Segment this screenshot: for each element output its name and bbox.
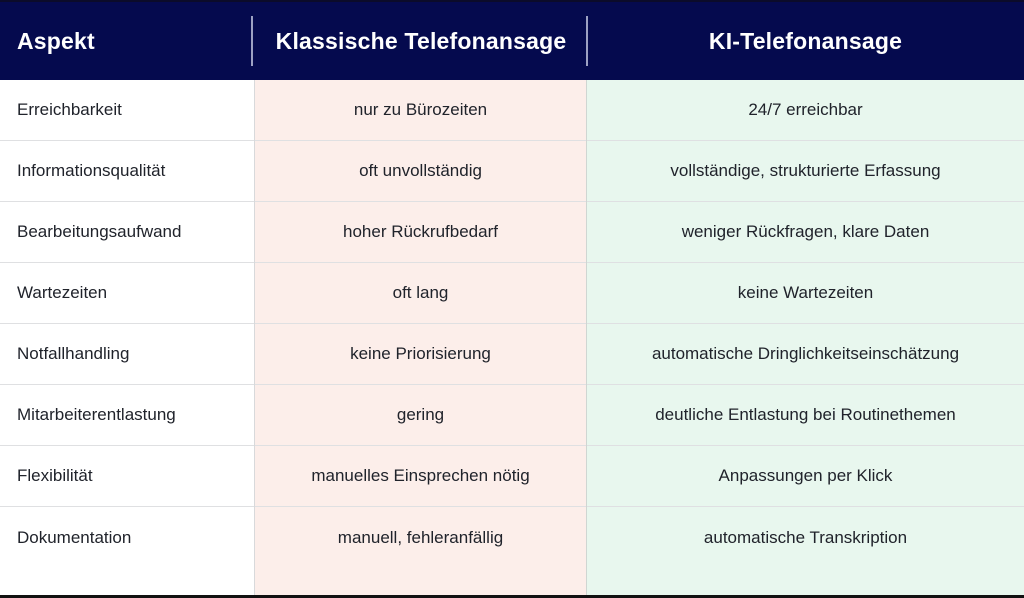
cell-ki: 24/7 erreichbar — [587, 80, 1024, 140]
cell-ki: automatische Dringlichkeitseinschätzung — [587, 324, 1024, 384]
cell-klassisch: hoher Rückrufbedarf — [255, 202, 587, 262]
table-row: Wartezeiten oft lang keine Wartezeiten — [0, 263, 1024, 324]
table-row: Flexibilität manuelles Einsprechen nötig… — [0, 446, 1024, 507]
cell-ki: deutliche Entlastung bei Routinethemen — [587, 385, 1024, 445]
header-divider-2 — [586, 16, 588, 66]
table-body: Erreichbarkeit nur zu Bürozeiten 24/7 er… — [0, 80, 1024, 597]
cell-aspekt: Erreichbarkeit — [0, 80, 255, 140]
table-header-row: Aspekt Klassische Telefonansage KI-Telef… — [0, 2, 1024, 80]
column-divider-2 — [586, 80, 587, 597]
cell-klassisch: oft lang — [255, 263, 587, 323]
cell-aspekt: Informationsqualität — [0, 141, 255, 201]
cell-aspekt: Bearbeitungsaufwand — [0, 202, 255, 262]
table-row: Mitarbeiterentlastung gering deutliche E… — [0, 385, 1024, 446]
table-row: Bearbeitungsaufwand hoher Rückrufbedarf … — [0, 202, 1024, 263]
table-row: Erreichbarkeit nur zu Bürozeiten 24/7 er… — [0, 80, 1024, 141]
comparison-table: Aspekt Klassische Telefonansage KI-Telef… — [0, 0, 1024, 598]
column-header-ki-telefonansage: KI-Telefonansage — [587, 2, 1024, 80]
cell-ki: automatische Transkription — [587, 507, 1024, 568]
cell-klassisch: manuelles Einsprechen nötig — [255, 446, 587, 506]
cell-aspekt: Notfallhandling — [0, 324, 255, 384]
cell-klassisch: keine Priorisierung — [255, 324, 587, 384]
cell-aspekt: Flexibilität — [0, 446, 255, 506]
cell-klassisch: nur zu Bürozeiten — [255, 80, 587, 140]
cell-klassisch: gering — [255, 385, 587, 445]
cell-ki: Anpassungen per Klick — [587, 446, 1024, 506]
cell-ki: weniger Rückfragen, klare Daten — [587, 202, 1024, 262]
column-header-klassische-telefonansage: Klassische Telefonansage — [255, 2, 587, 80]
column-header-aspekt: Aspekt — [0, 2, 255, 80]
cell-aspekt: Mitarbeiterentlastung — [0, 385, 255, 445]
cell-klassisch: manuell, fehleranfällig — [255, 507, 587, 568]
cell-aspekt: Wartezeiten — [0, 263, 255, 323]
cell-ki: keine Wartezeiten — [587, 263, 1024, 323]
table-row: Notfallhandling keine Priorisierung auto… — [0, 324, 1024, 385]
table-row: Informationsqualität oft unvollständig v… — [0, 141, 1024, 202]
table-row: Dokumentation manuell, fehleranfällig au… — [0, 507, 1024, 598]
cell-klassisch: oft unvollständig — [255, 141, 587, 201]
cell-ki: vollständige, strukturierte Erfassung — [587, 141, 1024, 201]
column-divider-1 — [254, 80, 255, 597]
header-divider-1 — [251, 16, 253, 66]
cell-aspekt: Dokumentation — [0, 507, 255, 568]
